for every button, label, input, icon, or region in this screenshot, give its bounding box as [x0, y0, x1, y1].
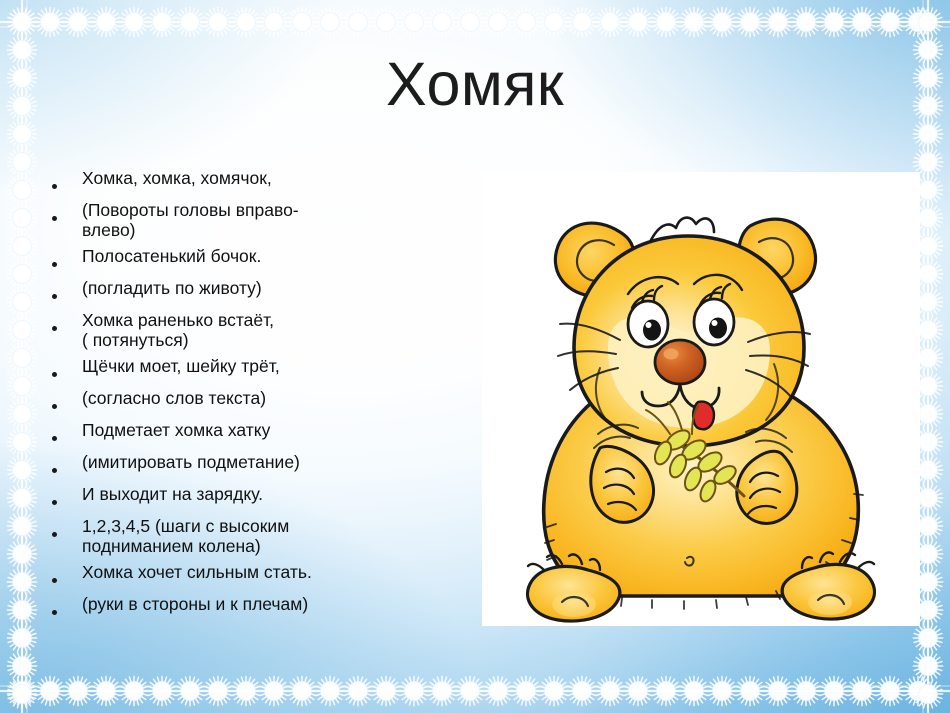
- bullet-text: И выходит на зарядку.: [82, 484, 444, 504]
- bullet-text: (согласно слов текста): [82, 388, 444, 408]
- bullet-item: Хомка, хомка, хомячок,: [52, 168, 444, 194]
- bullet-text: 1,2,3,4,5 (шаги с высоким подниманием ко…: [82, 516, 444, 556]
- hamster-eye-left: [628, 301, 668, 347]
- bullet-item: (Повороты головы вправо- влево): [52, 200, 444, 240]
- bullet-text: Хомка хочет сильным стать.: [82, 562, 444, 582]
- bullet-text: (Повороты головы вправо- влево): [82, 200, 444, 240]
- bullet-text: (руки в стороны и к плечам): [82, 594, 444, 614]
- bullet-text: (имитировать подметание): [82, 452, 444, 472]
- bullet-text: Хомка раненько встаёт, ( потянуться): [82, 310, 444, 350]
- bullet-item: (согласно слов текста): [52, 388, 444, 414]
- bullet-text: Полосатенький бочок.: [82, 246, 444, 266]
- bullet-dot-icon: [52, 388, 82, 414]
- bullet-item: (погладить по животу): [52, 278, 444, 304]
- bullet-item: Щёчки моет, шейку трёт,: [52, 356, 444, 382]
- bullet-dot-icon: [52, 484, 82, 510]
- hamster-tongue: [693, 402, 714, 430]
- bullet-dot-icon: [52, 356, 82, 382]
- slide: Хомяк Хомка, хомка, хомячок,(Повороты го…: [0, 0, 950, 713]
- bullet-list: Хомка, хомка, хомячок,(Повороты головы в…: [52, 168, 444, 626]
- bullet-dot-icon: [52, 200, 82, 226]
- bullet-item: (руки в стороны и к плечам): [52, 594, 444, 620]
- bullet-item: Полосатенький бочок.: [52, 246, 444, 272]
- cartoon-hamster-illustration: [482, 172, 920, 626]
- hamster-picture-panel: [482, 172, 920, 626]
- bullet-dot-icon: [52, 278, 82, 304]
- bullet-dot-icon: [52, 246, 82, 272]
- bullet-dot-icon: [52, 310, 82, 336]
- bullet-item: (имитировать подметание): [52, 452, 444, 478]
- bullet-item: 1,2,3,4,5 (шаги с высоким подниманием ко…: [52, 516, 444, 556]
- bullet-text: Щёчки моет, шейку трёт,: [82, 356, 444, 376]
- bullet-text: Подметает хомка хатку: [82, 420, 444, 440]
- bullet-item: Подметает хомка хатку: [52, 420, 444, 446]
- bullet-dot-icon: [52, 562, 82, 588]
- bullet-item: Хомка хочет сильным стать.: [52, 562, 444, 588]
- bullet-dot-icon: [52, 420, 82, 446]
- bullet-item: Хомка раненько встаёт, ( потянуться): [52, 310, 444, 350]
- bullet-dot-icon: [52, 168, 82, 194]
- bullet-dot-icon: [52, 594, 82, 620]
- bullet-text: Хомка, хомка, хомячок,: [82, 168, 444, 188]
- bullet-text: (погладить по животу): [82, 278, 444, 298]
- slide-title: Хомяк: [0, 52, 950, 116]
- bullet-item: И выходит на зарядку.: [52, 484, 444, 510]
- bullet-dot-icon: [52, 516, 82, 542]
- hamster-nose: [655, 340, 705, 384]
- bullet-dot-icon: [52, 452, 82, 478]
